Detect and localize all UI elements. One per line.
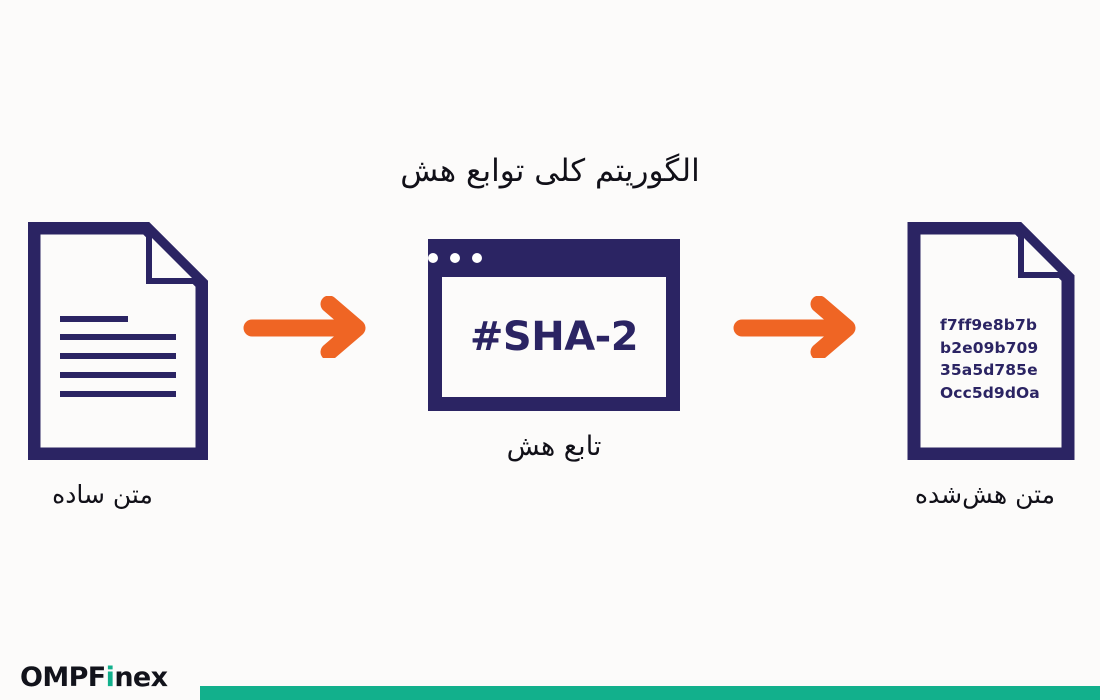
hash-line-3: 35a5d785e — [940, 359, 1060, 382]
plain-text-document-icon — [28, 222, 208, 460]
hash-line-1: f7ff9e8b7b — [940, 314, 1060, 337]
window-dot-1 — [428, 253, 438, 263]
hash-function-window: #SHA-2 — [428, 239, 680, 411]
footer-accent-bar — [200, 686, 1100, 700]
window-body: #SHA-2 — [442, 277, 666, 397]
brand-logo: OMPFinex — [20, 662, 167, 693]
window-dot-3 — [472, 253, 482, 263]
brand-prefix: OMPF — [20, 662, 106, 693]
hash-algorithm-text: #SHA-2 — [470, 314, 638, 360]
diagram-canvas: الگوریتم کلی توابع هش متن ساده — [0, 0, 1100, 700]
diagram-title: الگوریتم کلی توابع هش — [0, 148, 1100, 194]
hash-function-label: تابع هش — [428, 428, 680, 466]
hash-line-4: Occ5d9dOa — [940, 382, 1060, 405]
brand-suffix: nex — [114, 662, 167, 693]
hash-output-text: f7ff9e8b7b b2e09b709 35a5d785e Occ5d9dOa — [940, 314, 1060, 404]
brand-accent-letter: i — [106, 662, 115, 693]
hash-line-2: b2e09b709 — [940, 337, 1060, 360]
arrow-right-icon-2 — [733, 296, 859, 358]
window-titlebar — [428, 239, 680, 277]
hashed-text-label: متن هش‌شده — [880, 478, 1090, 512]
plain-text-label: متن ساده — [0, 478, 205, 512]
arrow-right-icon-1 — [243, 296, 369, 358]
window-dot-2 — [450, 253, 460, 263]
